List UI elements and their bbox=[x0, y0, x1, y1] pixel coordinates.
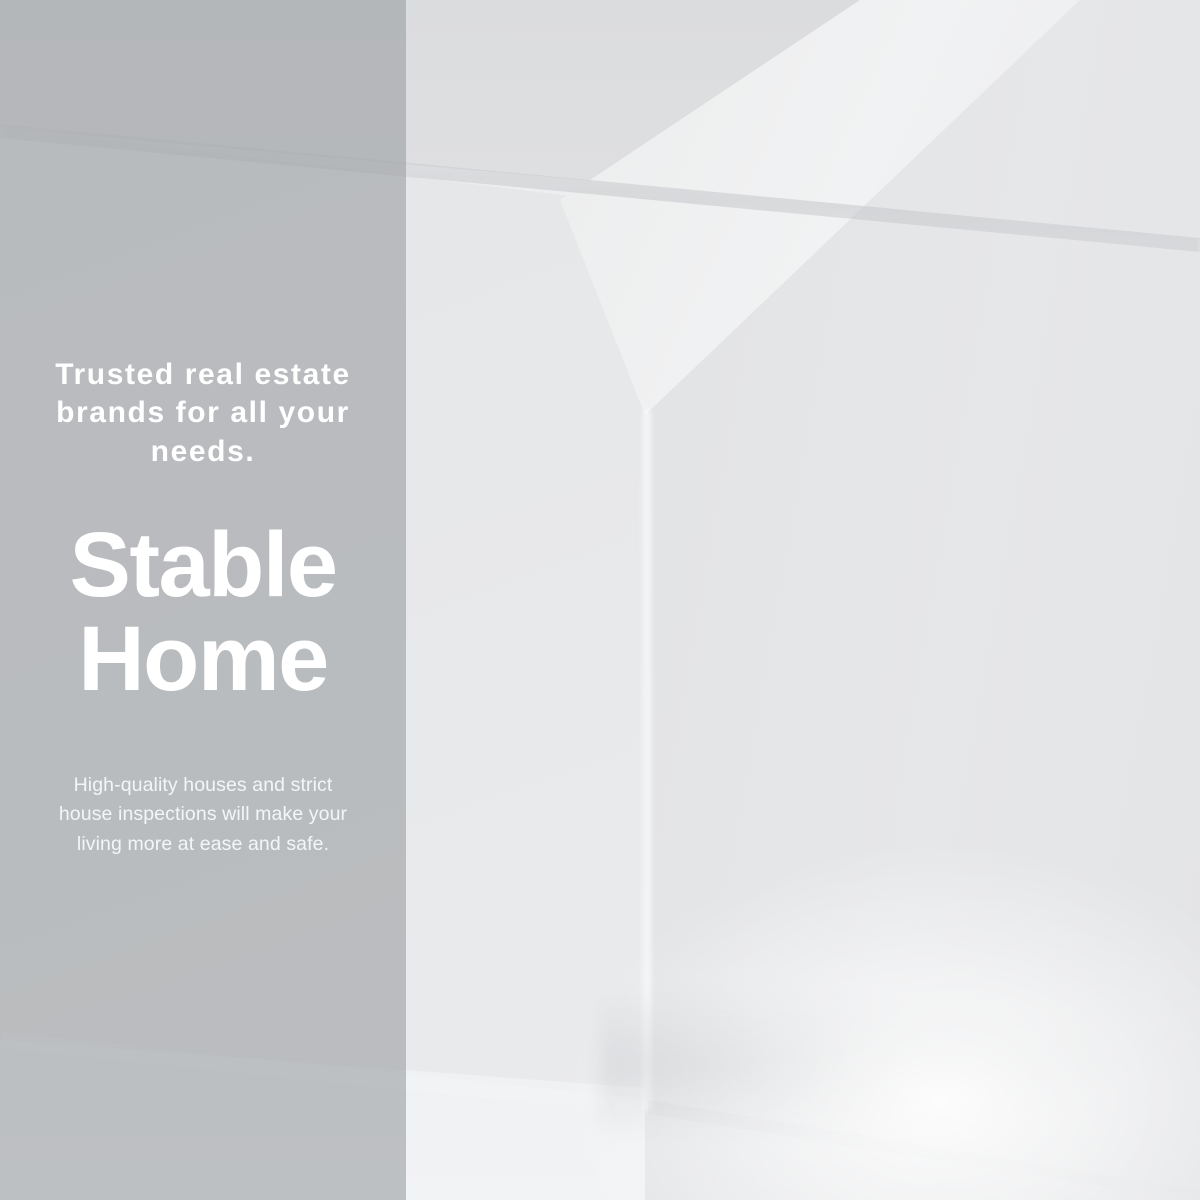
page-title-line-2: Home bbox=[26, 613, 380, 707]
subcopy-line-3: living more at ease and safe. bbox=[26, 830, 380, 860]
page-title-line-1: Stable bbox=[26, 519, 380, 613]
floor-light-glow bbox=[560, 840, 1200, 1200]
subcopy-line-1: High-quality houses and strict bbox=[26, 771, 380, 801]
poster-canvas: Trusted real estate brands for all your … bbox=[0, 0, 1200, 1200]
copy-panel: Trusted real estate brands for all your … bbox=[0, 0, 406, 1200]
page-title: Stable Home bbox=[26, 519, 380, 707]
subcopy-text: High-quality houses and strict house ins… bbox=[26, 771, 380, 860]
subcopy-line-2: house inspections will make your bbox=[26, 800, 380, 830]
eyebrow-text: Trusted real estate brands for all your … bbox=[26, 356, 380, 471]
